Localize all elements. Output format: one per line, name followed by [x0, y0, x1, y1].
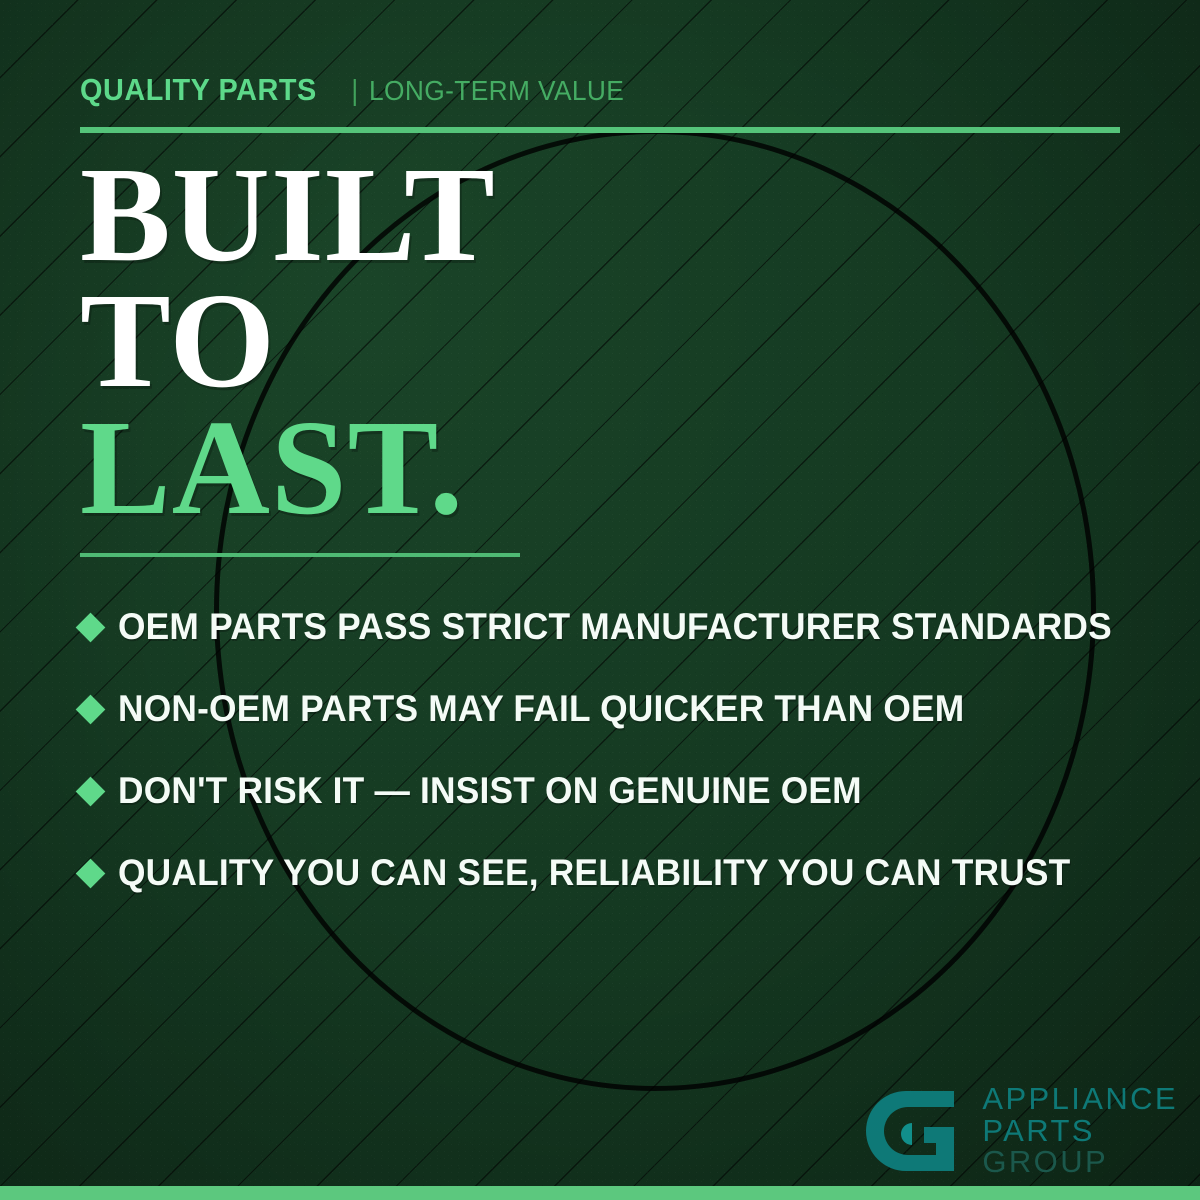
list-item-label: OEM PARTS PASS STRICT MANUFACTURER STAND… — [118, 606, 1112, 648]
appliance-parts-group-g-mark-icon — [866, 1085, 970, 1177]
bottom-accent-bar — [0, 1186, 1200, 1200]
header-divider-rule — [80, 127, 1120, 133]
headline-line-3: LAST. — [80, 405, 496, 531]
headline-underline-rule — [80, 553, 520, 557]
list-item: NON-OEM PARTS MAY FAIL QUICKER THAN OEM — [80, 668, 1140, 750]
benefits-list: OEM PARTS PASS STRICT MANUFACTURER STAND… — [80, 586, 1140, 914]
list-item: DON'T RISK IT — INSIST ON GENUINE OEM — [80, 750, 1140, 832]
list-item: OEM PARTS PASS STRICT MANUFACTURER STAND… — [80, 586, 1140, 668]
kicker-separator: | — [351, 75, 358, 108]
diamond-bullet-icon — [76, 694, 106, 724]
logo-line-group: GROUP — [982, 1146, 1178, 1178]
brand-logo-lockup: APPLIANCE PARTS GROUP — [866, 1083, 1178, 1178]
page-title: BUILT TO LAST. — [80, 152, 496, 531]
kicker-main-label: QUALITY PARTS — [80, 72, 317, 108]
logo-line-appliance: APPLIANCE — [982, 1083, 1178, 1115]
headline-line-2: TO — [80, 278, 496, 404]
poster-content: QUALITY PARTS | LONG-TERM VALUE BUILT TO… — [0, 0, 1200, 1200]
diamond-bullet-icon — [76, 858, 106, 888]
logo-line-parts: PARTS — [982, 1115, 1178, 1147]
poster-canvas: QUALITY PARTS | LONG-TERM VALUE BUILT TO… — [0, 0, 1200, 1200]
list-item-label: QUALITY YOU CAN SEE, RELIABILITY YOU CAN… — [118, 852, 1070, 894]
kicker-row: QUALITY PARTS | LONG-TERM VALUE — [80, 72, 641, 108]
list-item-label: NON-OEM PARTS MAY FAIL QUICKER THAN OEM — [118, 688, 964, 730]
list-item-label: DON'T RISK IT — INSIST ON GENUINE OEM — [118, 770, 862, 812]
diamond-bullet-icon — [76, 612, 106, 642]
kicker-sub-label: LONG-TERM VALUE — [369, 75, 624, 107]
headline-line-1: BUILT — [80, 152, 496, 278]
diamond-bullet-icon — [76, 776, 106, 806]
brand-logo-wordmark: APPLIANCE PARTS GROUP — [982, 1083, 1178, 1178]
list-item: QUALITY YOU CAN SEE, RELIABILITY YOU CAN… — [80, 832, 1140, 914]
